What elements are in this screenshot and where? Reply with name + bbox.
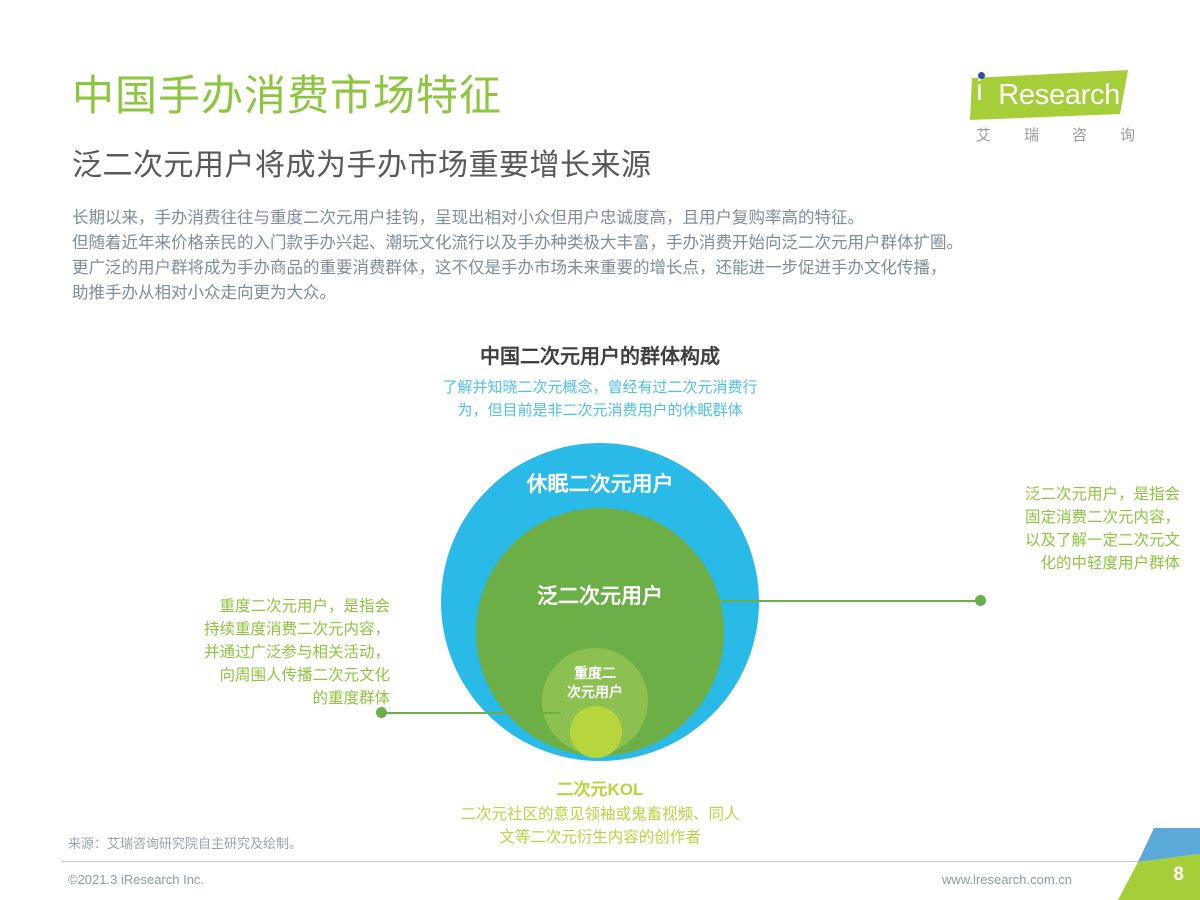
connector-line-left — [381, 712, 561, 714]
figure-top-note: 了解并知晓二次元概念，曾经有过二次元消费行为，但目前是非二次元消费用户的休眠群体 — [0, 376, 1200, 422]
intro-line-1: 但随着近年来价格亲民的入门款手办兴起、潮玩文化流行以及手办种类极大丰富，手办消费… — [72, 231, 1142, 256]
annotation-heavy-users: 重度二次元用户，是指会持续重度消费二次元内容，并通过广泛参与相关活动，向周围人传… — [140, 595, 390, 710]
annotation-pan-users: 泛二次元用户，是指会固定消费二次元内容，以及了解一定二次元文化的中轻度用户群体 — [930, 483, 1180, 575]
label-dormant-users: 休眠二次元用户 — [441, 468, 759, 498]
intro-line-3: 助推手办从相对小众走向更为大众。 — [72, 281, 1142, 306]
slide: 中国手办消费市场特征 泛二次元用户将成为手办市场重要增长来源 i Researc… — [0, 0, 1200, 900]
circle-kol-users — [570, 706, 622, 758]
connector-line-right — [718, 600, 980, 602]
iresearch-logo: i Research 艾 瑞 咨 询 — [962, 62, 1142, 148]
footer-divider — [62, 861, 1140, 862]
logo-cn-char-1: 瑞 — [1024, 124, 1040, 145]
label-pan-users: 泛二次元用户 — [476, 580, 724, 610]
page-number: 8 — [1173, 864, 1184, 886]
intro-line-2: 更广泛的用户群将成为手办商品的重要消费群体，这不仅是手办市场未来重要的增长点，还… — [72, 256, 1142, 281]
intro-line-0: 长期以来，手办消费往往与重度二次元用户挂钩，呈现出相对小众但用户忠诚度高，且用户… — [72, 206, 1142, 231]
corner-decoration-icon — [1108, 828, 1200, 900]
label-heavy-users: 重度二次元用户 — [542, 664, 648, 702]
logo-cn-char-0: 艾 — [976, 124, 992, 145]
intro-paragraph: 长期以来，手办消费往往与重度二次元用户挂钩，呈现出相对小众但用户忠诚度高，且用户… — [72, 206, 1142, 306]
logo-cn-char-3: 询 — [1120, 124, 1136, 145]
logo-cn-char-2: 咨 — [1072, 124, 1088, 145]
logo-brand-text: Research — [970, 70, 1130, 120]
figure-title: 中国二次元用户的群体构成 — [0, 340, 1200, 369]
page-subtitle: 泛二次元用户将成为手办市场重要增长来源 — [72, 140, 652, 184]
logo-chinese-name: 艾 瑞 咨 询 — [976, 124, 1136, 145]
page-title: 中国手办消费市场特征 — [72, 62, 502, 123]
copyright-text: ©2021.3 iResearch Inc. — [68, 872, 204, 887]
source-note: 来源：艾瑞咨询研究院自主研究及绘制。 — [68, 833, 302, 852]
connector-dot-right — [975, 595, 986, 606]
website-url: www.iresearch.com.cn — [942, 872, 1072, 887]
label-kol-title: 二次元KOL — [0, 775, 1200, 800]
